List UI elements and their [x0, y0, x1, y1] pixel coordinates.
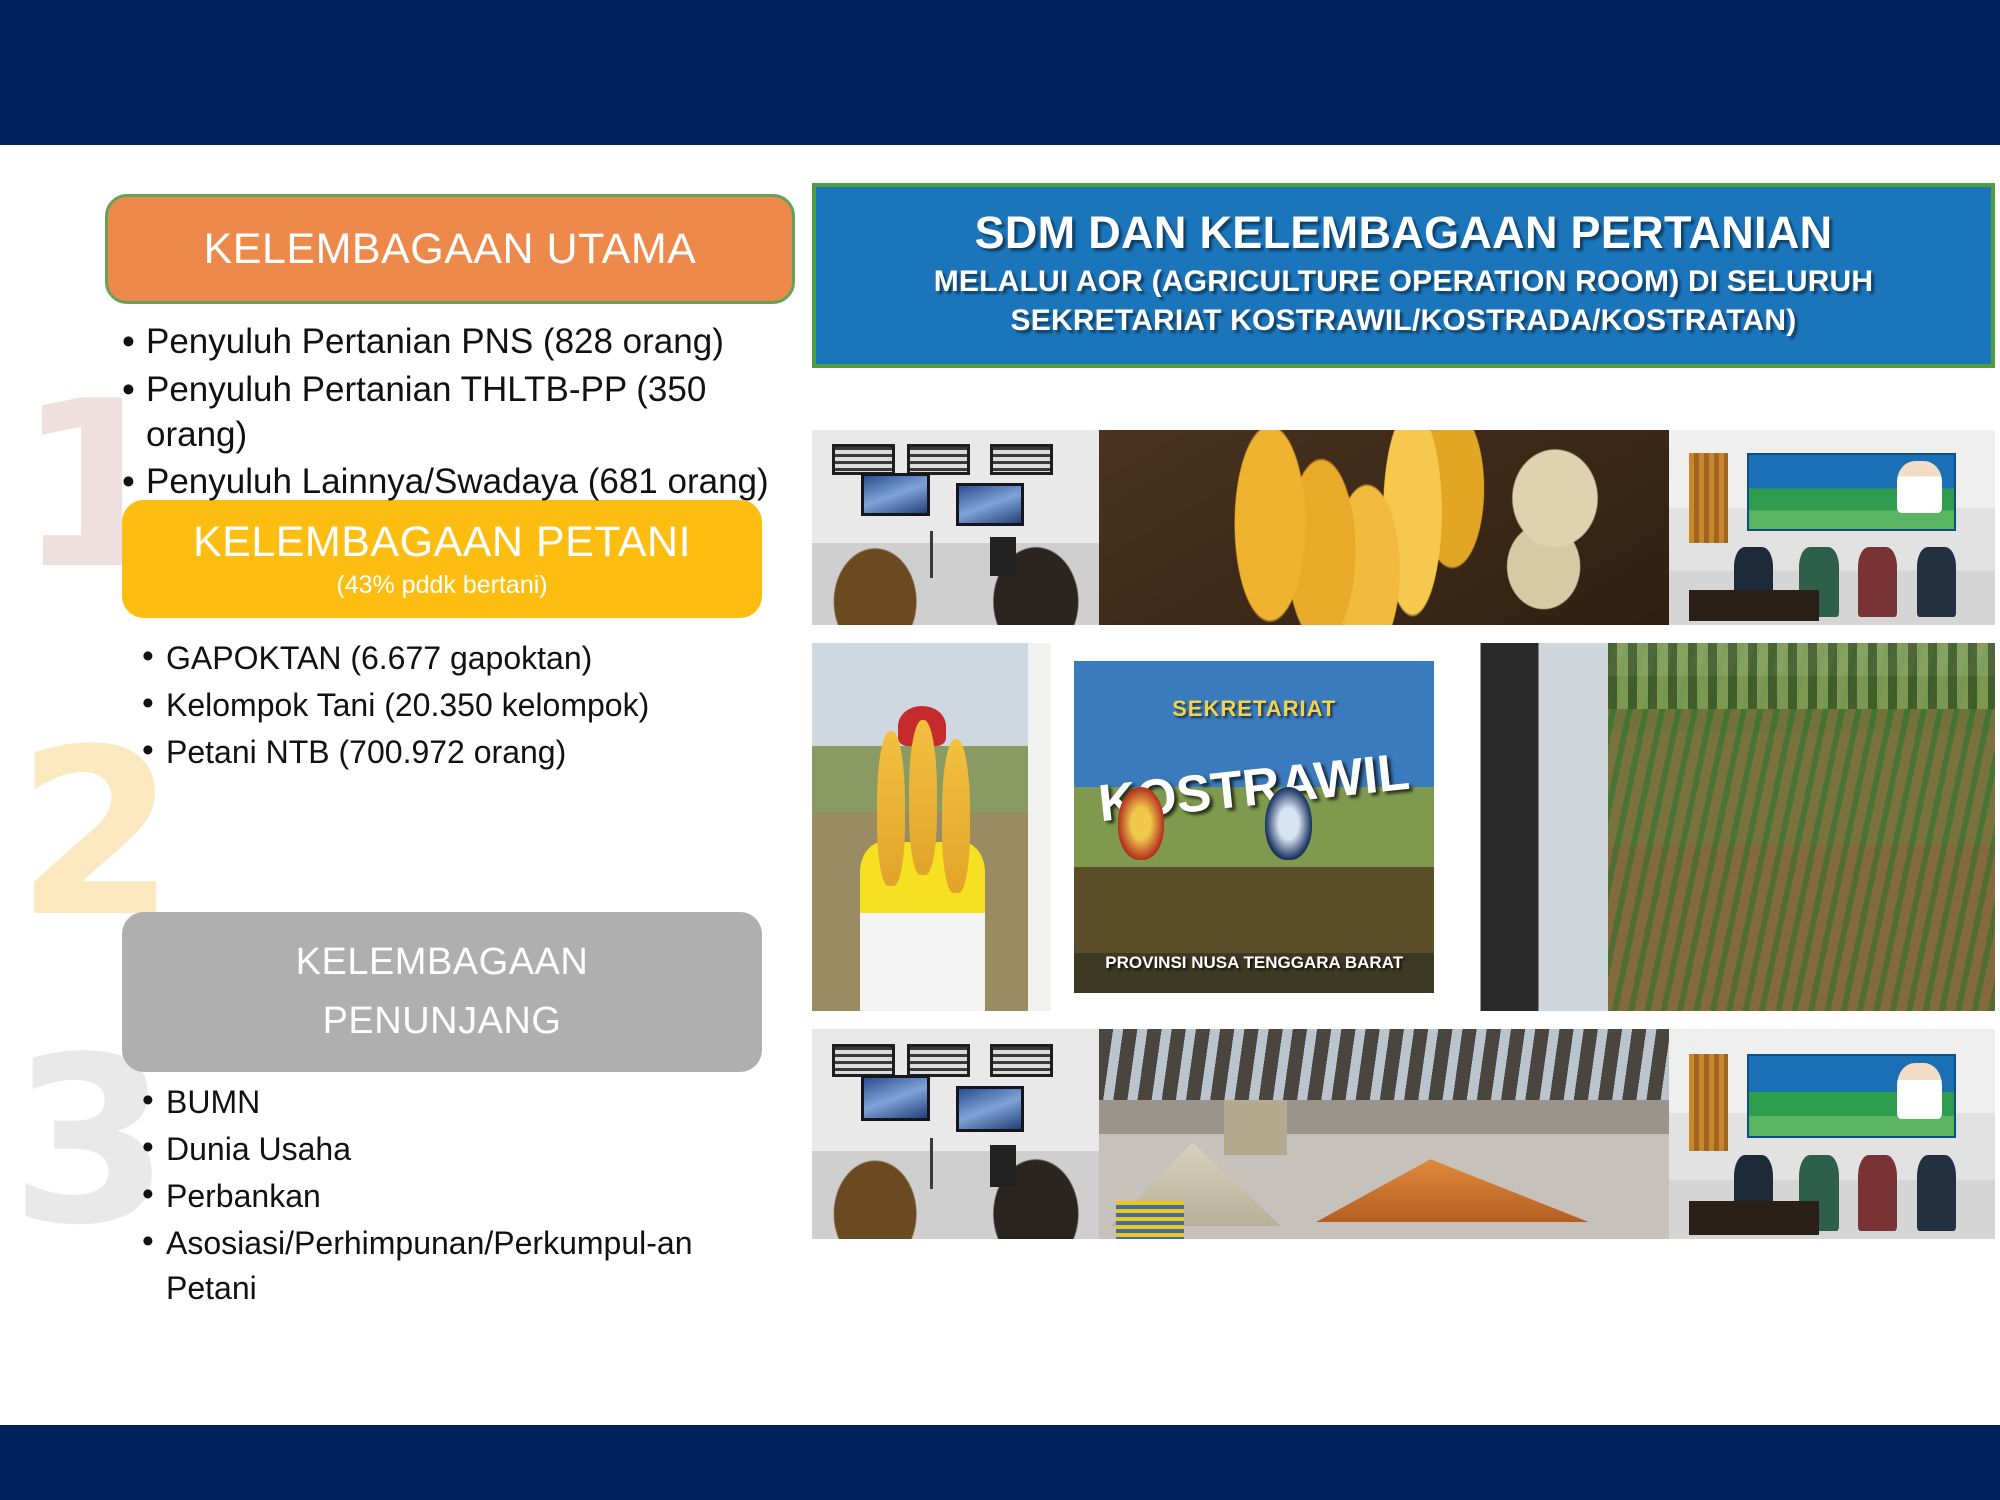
grain-pile [1316, 1159, 1590, 1222]
photo-farmer-holding-corn-cobs [812, 643, 1028, 1011]
speaker-icon [990, 1145, 1016, 1187]
list-item: GAPOKTAN (6.677 gapoktan) [140, 636, 800, 680]
silo-icon [1224, 1100, 1287, 1155]
list-item: Dunia Usaha [140, 1127, 780, 1171]
caption-kelembagaan-penunjang[interactable]: KELEMBAGAAN PENUNJANG [122, 912, 762, 1072]
table-icon [1689, 590, 1819, 621]
list-item: Penyuluh Pertanian THLTB-PP (350 orang) [120, 368, 790, 458]
window-icon [832, 444, 895, 475]
backdrop-banner [1747, 1054, 1956, 1138]
photo-harvested-corn-cobs [1099, 430, 1669, 625]
person-icon [1917, 547, 1956, 617]
photo-aor-video-conference-room [812, 430, 1099, 625]
list-item: Perbankan [140, 1174, 780, 1218]
television-icon [861, 473, 930, 516]
caption-penunjang-title-line2: PENUNJANG [323, 992, 562, 1051]
photo-young-crop-field [1608, 643, 1995, 1011]
caption-utama-title: KELEMBAGAAN UTAMA [204, 225, 697, 274]
list-item: Petani NTB (700.972 orang) [140, 730, 800, 774]
speaker-icon [990, 537, 1016, 576]
corn-cob-icon [942, 739, 970, 894]
caption-kelembagaan-petani[interactable]: KELEMBAGAAN PETANI (43% pddk bertani) [122, 500, 762, 618]
person-icon [1858, 1155, 1897, 1231]
left-content-column: 1 2 3 KELEMBAGAAN UTAMA Penyuluh Pertani… [0, 150, 820, 1410]
photo-kostrawil-secretariat-sign: SEKRETARIAT KOSTRAWIL PROVINSI NUSA TENG… [1028, 643, 1608, 1011]
photo-gallery: SEKRETARIAT KOSTRAWIL PROVINSI NUSA TENG… [812, 430, 1995, 1239]
window-icon [907, 444, 970, 475]
photo-row [812, 1029, 1995, 1239]
curtain-icon [1689, 453, 1728, 543]
photo-grain-storage-warehouse [1099, 1029, 1669, 1239]
tripod-icon [930, 1138, 933, 1188]
roof-structure [1099, 1029, 1669, 1100]
photo-aor-meeting-hands-raised [1669, 1029, 1995, 1239]
list-item: Penyuluh Lainnya/Swadaya (681 orang) [120, 460, 790, 505]
photo-aor-video-conference-room-2 [812, 1029, 1099, 1239]
photo-row: SEKRETARIAT KOSTRAWIL PROVINSI NUSA TENG… [812, 643, 1995, 1011]
caption-kelembagaan-utama[interactable]: KELEMBAGAAN UTAMA [105, 194, 795, 304]
list-item: Kelompok Tani (20.350 kelompok) [140, 683, 800, 727]
table-icon [1689, 1201, 1819, 1235]
list-item: Penyuluh Pertanian PNS (828 orang) [120, 320, 790, 365]
television-icon [861, 1075, 930, 1121]
television-icon [956, 483, 1025, 526]
sign-text-line1: SEKRETARIAT [1172, 696, 1336, 722]
emblem-icon [1118, 787, 1165, 860]
sign-board: SEKRETARIAT KOSTRAWIL PROVINSI NUSA TENG… [1074, 661, 1434, 992]
slide-title-banner: SDM DAN KELEMBAGAAN PERTANIAN MELALUI AO… [812, 183, 1995, 368]
window-icon [990, 444, 1053, 475]
crate-icon [1116, 1201, 1184, 1239]
backdrop-banner [1747, 453, 1956, 531]
sign-text-line3: PROVINSI NUSA TENGGARA BARAT [1105, 953, 1403, 973]
list-item: BUMN [140, 1080, 780, 1124]
top-navy-bar [0, 0, 2000, 145]
curtain-icon [1689, 1054, 1728, 1151]
bullet-list-utama: Penyuluh Pertanian PNS (828 orang) Penyu… [120, 320, 790, 508]
list-item: Asosiasi/Perhimpunan/Perkumpul-an Petani [140, 1221, 780, 1309]
bullet-list-penunjang: BUMN Dunia Usaha Perbankan Asosiasi/Perh… [140, 1080, 780, 1313]
window-icon [907, 1044, 970, 1078]
corn-cob-icon [877, 731, 905, 886]
tripod-icon [930, 531, 933, 578]
window-icon [990, 1044, 1053, 1078]
person-icon [1858, 547, 1897, 617]
page-title: SDM DAN KELEMBAGAAN PERTANIAN [975, 207, 1833, 259]
slide-canvas: 1 2 3 KELEMBAGAAN UTAMA Penyuluh Pertani… [0, 0, 2000, 1500]
photo-aor-meeting-participants [1669, 430, 1995, 625]
window-icon [832, 1044, 895, 1078]
page-subtitle: MELALUI AOR (AGRICULTURE OPERATION ROOM)… [826, 263, 1981, 340]
television-icon [956, 1086, 1025, 1132]
photo-row [812, 430, 1995, 625]
person-icon [1917, 1155, 1956, 1231]
bottom-navy-bar [0, 1425, 2000, 1500]
caption-penunjang-title-line1: KELEMBAGAAN [296, 933, 589, 992]
emblem-icon [1265, 787, 1312, 860]
corn-cob-icon [909, 720, 937, 875]
caption-petani-subtitle: (43% pddk bertani) [336, 571, 547, 600]
caption-petani-title: KELEMBAGAAN PETANI [193, 518, 691, 567]
bullet-list-petani: GAPOKTAN (6.677 gapoktan) Kelompok Tani … [140, 636, 800, 777]
